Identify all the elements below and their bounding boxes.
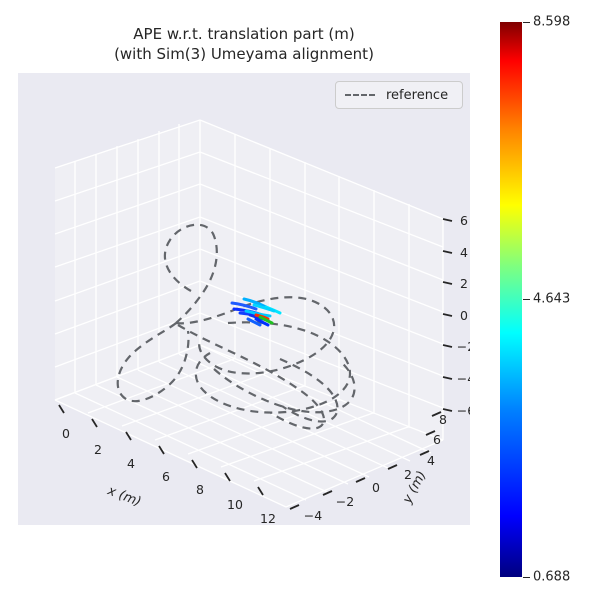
y-tick-0: −4 bbox=[304, 508, 322, 523]
colorbar-label-max: 8.598 bbox=[533, 15, 570, 30]
x-tick-4: 8 bbox=[196, 482, 204, 497]
y-tick-6: 8 bbox=[439, 412, 447, 427]
colorbar-tick-max bbox=[523, 22, 530, 23]
x-tick-5: 10 bbox=[227, 497, 243, 512]
z-axis-ticklabels: 6 4 2 0 −2 −4 −6 bbox=[457, 213, 470, 418]
z-tick-5: −4 bbox=[457, 371, 470, 386]
z-tick-0: 6 bbox=[460, 213, 468, 228]
legend-box[interactable]: reference bbox=[335, 81, 463, 109]
colorbar-label-mid: 4.643 bbox=[533, 292, 570, 307]
figure-canvas: APE w.r.t. translation part (m) (with Si… bbox=[0, 0, 600, 600]
x-axis-label: x (m) bbox=[104, 483, 143, 510]
y-tick-2: 0 bbox=[372, 480, 380, 495]
colorbar-gradient bbox=[500, 22, 522, 577]
z-axis-ticks bbox=[443, 219, 452, 411]
legend-item-reference: reference bbox=[386, 88, 448, 103]
legend-dashed-line-icon bbox=[345, 94, 375, 96]
y-tick-1: −2 bbox=[336, 494, 354, 509]
z-tick-4: −2 bbox=[457, 339, 470, 354]
x-tick-1: 2 bbox=[94, 442, 102, 457]
z-tick-3: 0 bbox=[460, 308, 468, 323]
x-tick-0: 0 bbox=[62, 426, 70, 441]
y-tick-4: 4 bbox=[427, 453, 435, 468]
plot-axes-3d: 0 2 4 6 8 10 12 x (m) −4 −2 bbox=[18, 73, 470, 525]
colorbar-label-min: 0.688 bbox=[533, 570, 570, 585]
colorbar-tick-min bbox=[523, 577, 530, 578]
page-title: APE w.r.t. translation part (m) (with Si… bbox=[18, 24, 470, 64]
x-tick-6: 12 bbox=[260, 511, 276, 525]
y-tick-5: 6 bbox=[433, 432, 441, 447]
x-tick-2: 4 bbox=[127, 456, 135, 471]
colorbar[interactable]: 8.598 4.643 0.688 bbox=[500, 22, 522, 577]
z-tick-1: 4 bbox=[460, 245, 468, 260]
z-tick-6: −6 bbox=[457, 403, 470, 418]
colorbar-tick-mid bbox=[523, 299, 530, 300]
z-tick-2: 2 bbox=[460, 276, 468, 291]
x-tick-3: 6 bbox=[162, 469, 170, 484]
